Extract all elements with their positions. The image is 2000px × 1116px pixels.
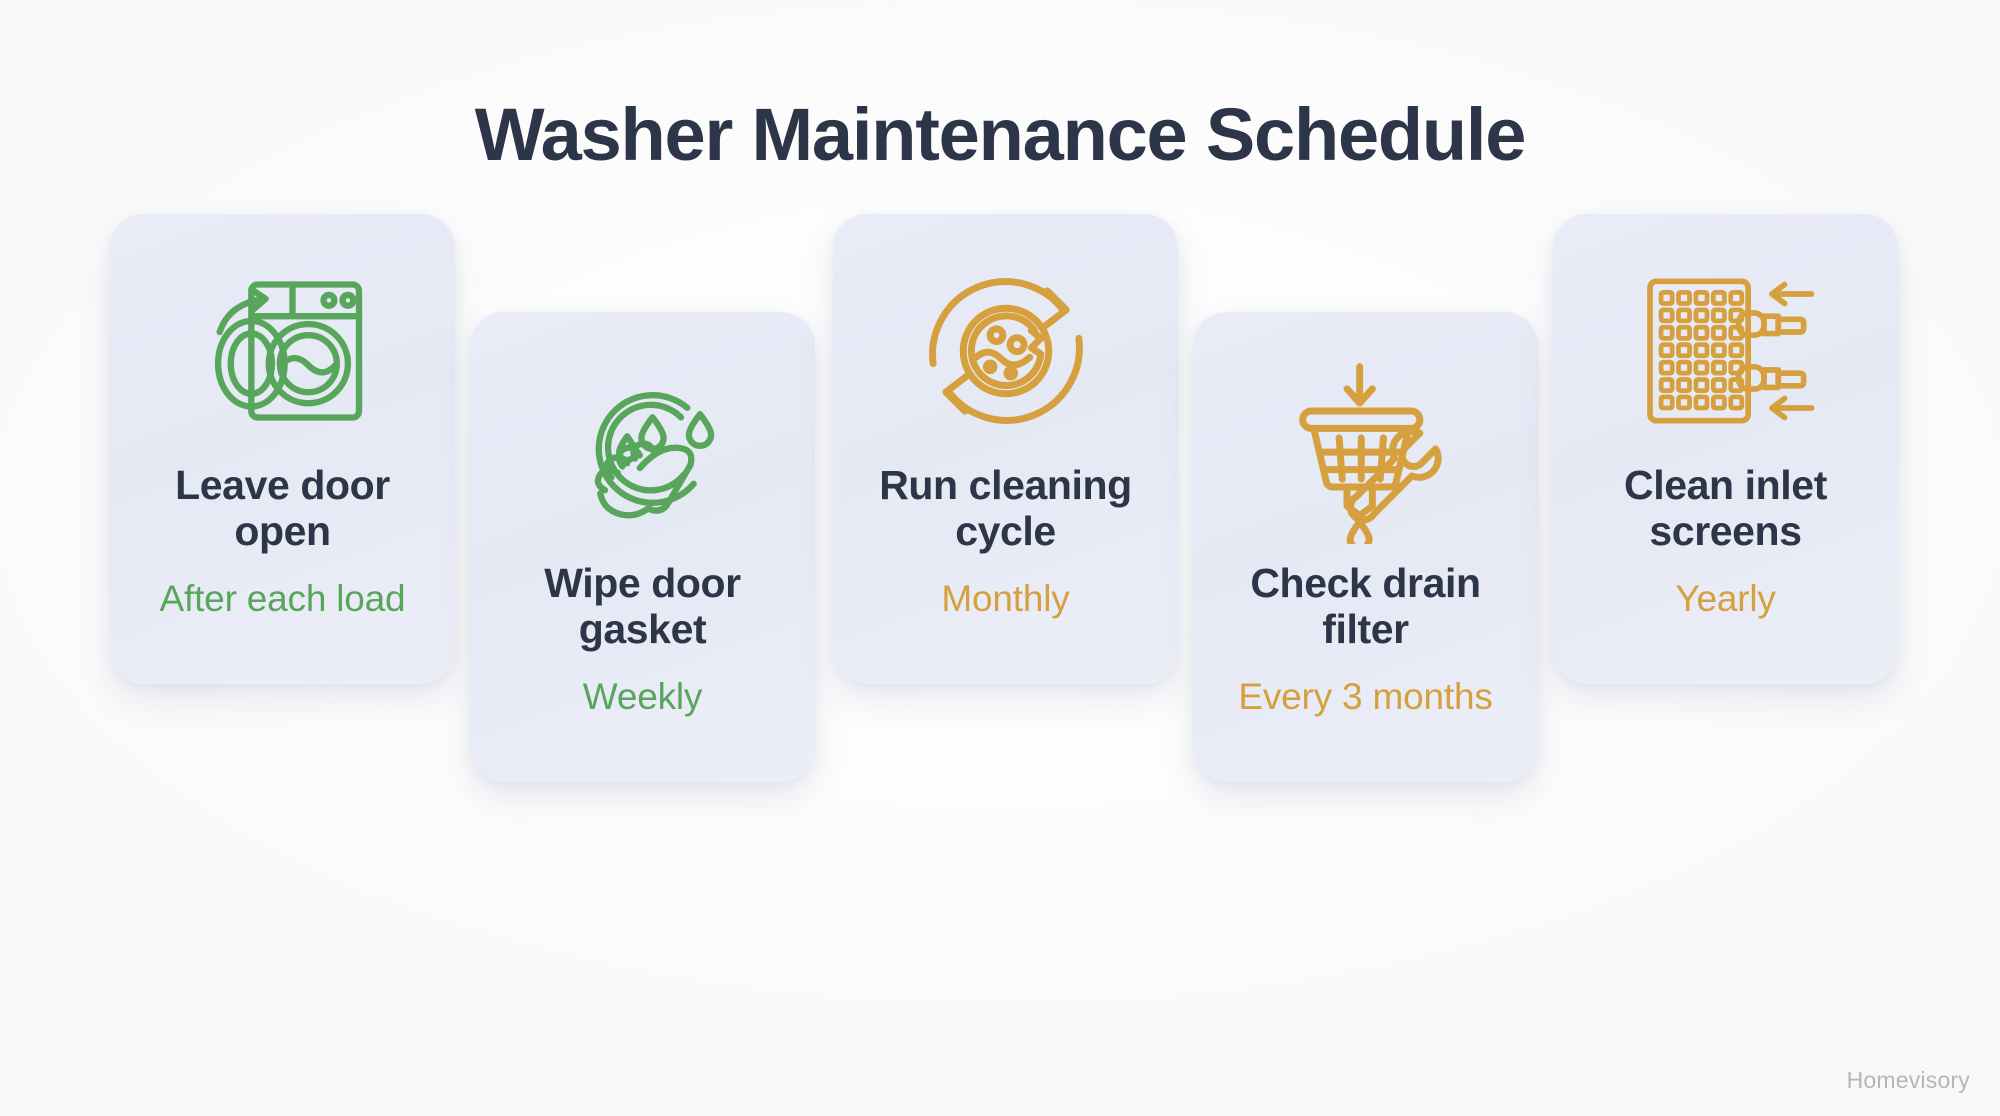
- card-run-cleaning-cycle[interactable]: Run cleaning cycle Monthly: [833, 214, 1178, 684]
- card-wipe-door-gasket[interactable]: Wipe door gasket Weekly: [470, 312, 815, 782]
- card-leave-door-open[interactable]: Leave door open After each load: [110, 214, 455, 684]
- hand-wiping-gasket-icon: [548, 354, 738, 544]
- card-check-drain-filter[interactable]: Check drain filter Every 3 months: [1193, 312, 1538, 782]
- card-clean-inlet-screens[interactable]: Clean inlet screens Yearly: [1553, 214, 1898, 684]
- card-frequency: Weekly: [583, 675, 702, 719]
- watermark-homevisory: Homevisory: [1847, 1067, 1970, 1094]
- page-title: Washer Maintenance Schedule: [0, 92, 2000, 177]
- card-frequency: Yearly: [1675, 577, 1775, 621]
- card-frequency: Every 3 months: [1238, 675, 1492, 719]
- drum-refresh-cycle-icon: [911, 256, 1101, 446]
- card-title: Run cleaning cycle: [855, 462, 1156, 555]
- card-title: Clean inlet screens: [1575, 462, 1876, 555]
- card-frequency: Monthly: [941, 577, 1069, 621]
- card-title: Wipe door gasket: [492, 560, 793, 653]
- infographic-canvas: Washer Maintenance Schedule: [0, 0, 2000, 1116]
- card-frequency: After each load: [160, 577, 406, 621]
- washer-open-door-icon: [188, 256, 378, 446]
- inlet-screen-mesh-icon: [1631, 256, 1821, 446]
- card-title: Leave door open: [132, 462, 433, 555]
- card-title: Check drain filter: [1215, 560, 1516, 653]
- drain-filter-wrench-icon: [1271, 354, 1461, 544]
